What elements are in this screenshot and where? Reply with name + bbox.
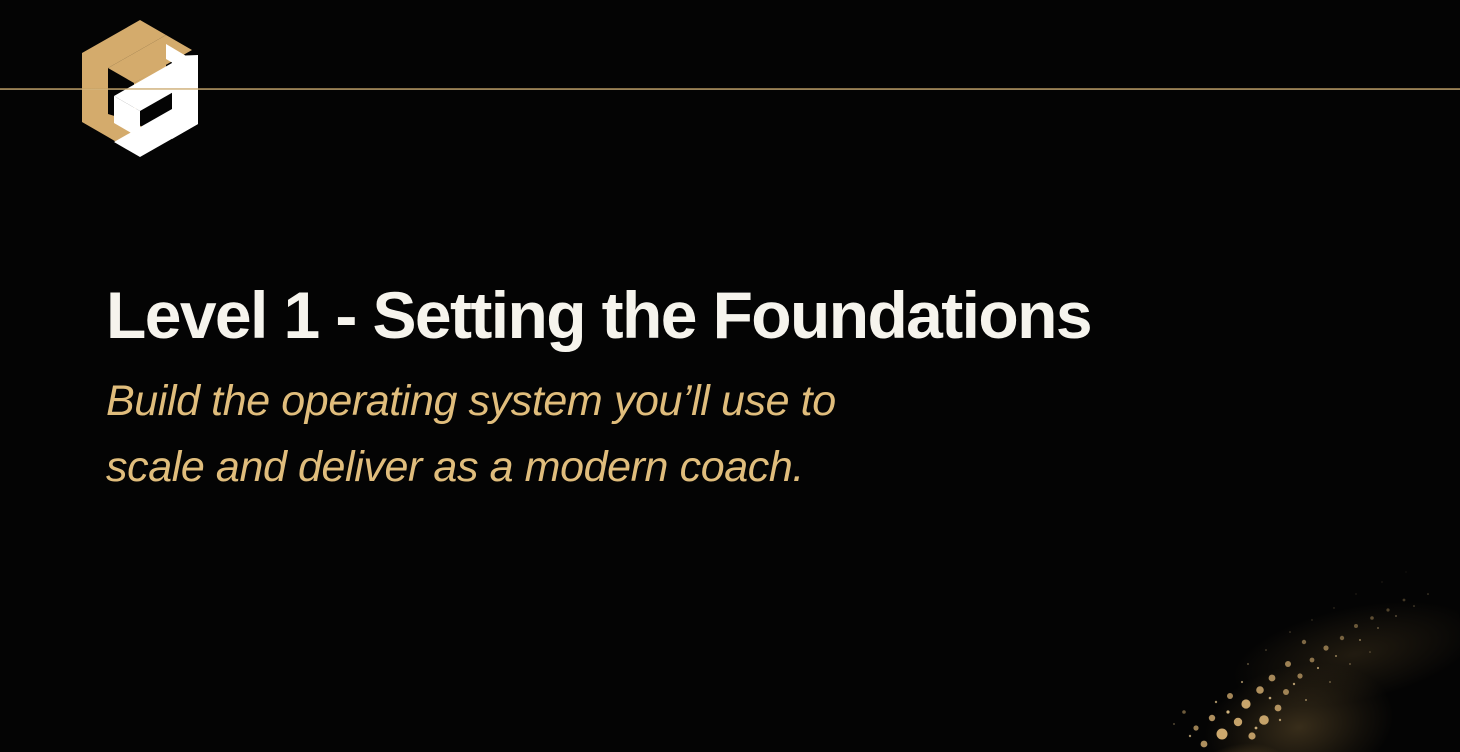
subtitle-line-1: Build the operating system you’ll use to: [106, 368, 1356, 434]
subtitle-line-2: scale and deliver as a modern coach.: [106, 434, 1356, 500]
glitter-particles: [1160, 522, 1460, 752]
slide-subtitle: Build the operating system you’ll use to…: [106, 368, 1356, 500]
glitter-haze: [1160, 524, 1460, 752]
gold-horizontal-rule: [0, 88, 1460, 90]
gold-glitter-spray: [1160, 522, 1460, 752]
presentation-slide: Level 1 - Setting the Foundations Build …: [0, 0, 1460, 752]
slide-text-block: Level 1 - Setting the Foundations Build …: [106, 276, 1356, 500]
page-title: Level 1 - Setting the Foundations: [106, 276, 1356, 354]
